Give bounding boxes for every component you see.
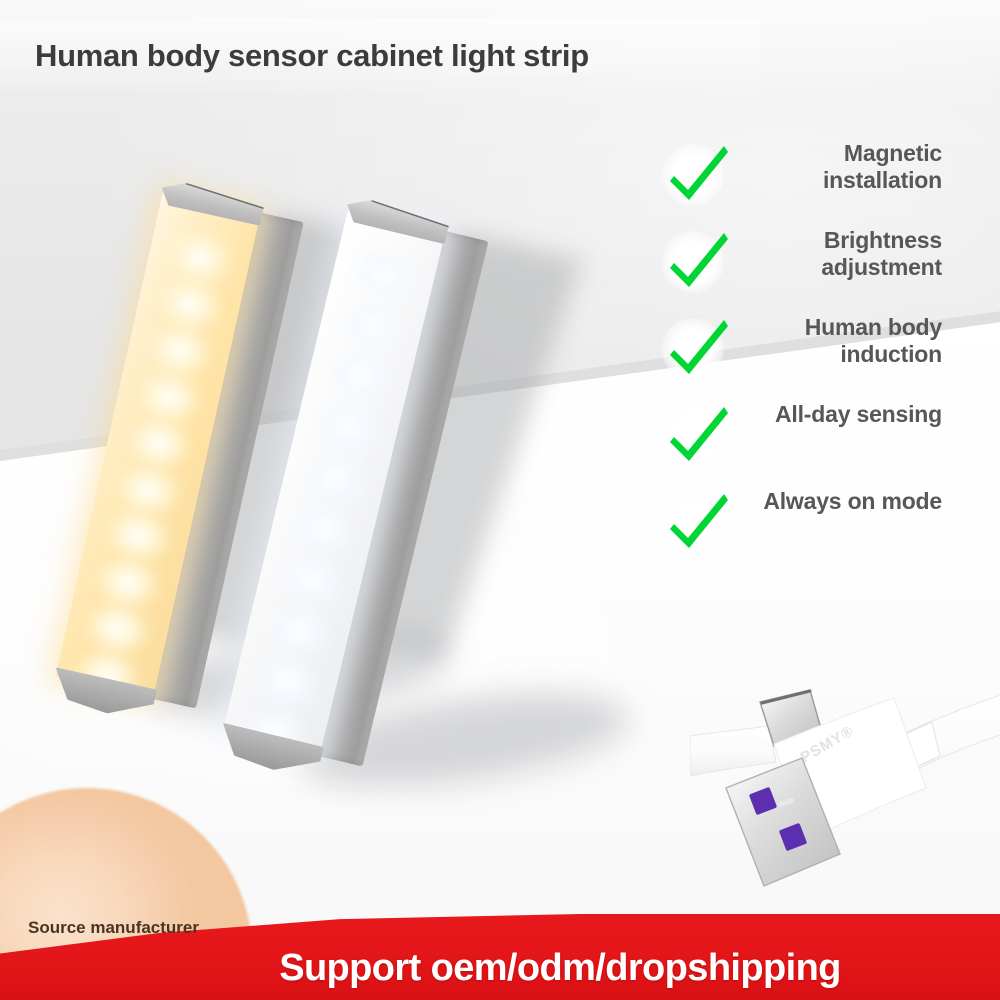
source-manufacturer-label: Source manufacturer xyxy=(28,917,218,940)
feature-item: Brightness adjustment xyxy=(650,225,950,312)
feature-label: Magnetic installation xyxy=(732,140,942,194)
promo-banner-text: Support oem/odm/dropshipping xyxy=(0,947,1000,990)
feature-item: Always on mode xyxy=(650,486,950,573)
check-icon xyxy=(662,138,734,210)
check-icon xyxy=(662,486,734,558)
page-title: Human body sensor cabinet light strip xyxy=(35,38,795,74)
cable-usbc-wire xyxy=(690,726,776,776)
check-icon xyxy=(662,312,734,384)
product-marketing-image: Human body sensor cabinet light strip xyxy=(0,0,1000,1000)
check-icon xyxy=(662,399,734,471)
feature-list: Magnetic installation Brightness adjustm… xyxy=(650,138,950,573)
feature-label: Always on mode xyxy=(732,488,942,515)
feature-label: All-day sensing xyxy=(732,401,942,428)
feature-item: All-day sensing xyxy=(650,399,950,486)
feature-item: Human body induction xyxy=(650,312,950,399)
feature-label: Human body induction xyxy=(732,314,942,368)
check-icon xyxy=(662,225,734,297)
usb-a-to-usb-c-charging-cable: PSMY® xyxy=(690,640,1000,900)
feature-item: Magnetic installation xyxy=(650,138,950,225)
feature-label: Brightness adjustment xyxy=(732,227,942,281)
